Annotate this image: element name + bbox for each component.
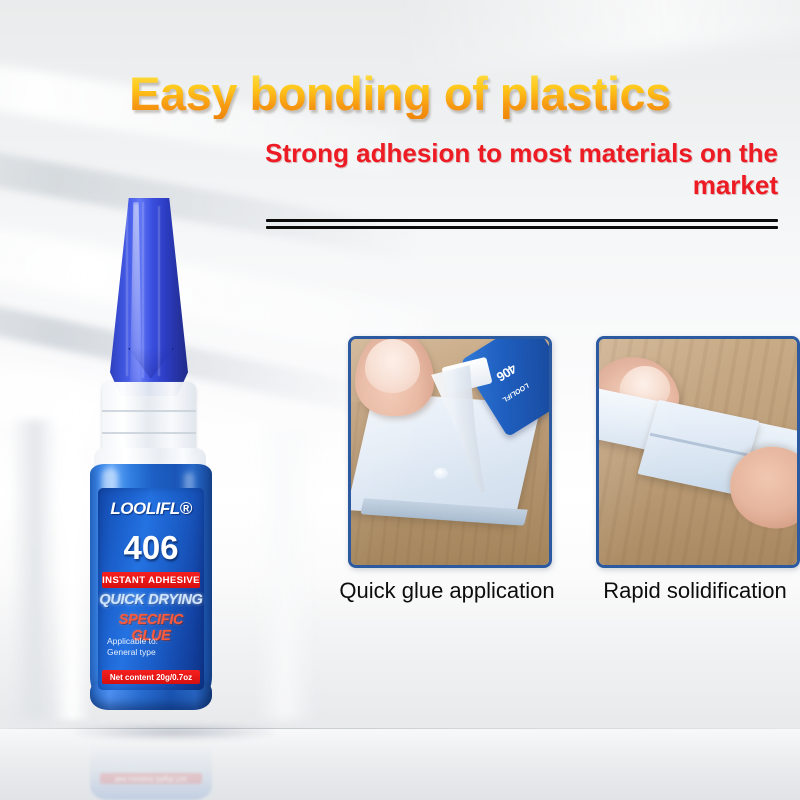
panel-1-scene: 406 LOOLIFL <box>351 339 549 565</box>
bottle-label: LOOLIFL® 406 INSTANT ADHESIVE QUICK DRYI… <box>98 488 204 690</box>
applicable-label: Applicable to: <box>107 636 158 647</box>
collar-seam <box>102 410 196 412</box>
product-bottle: LOOLIFL® 406 INSTANT ADHESIVE QUICK DRYI… <box>84 196 260 736</box>
divider-rule-top <box>266 219 778 222</box>
page-subtitle: Strong adhesion to most materials on the… <box>178 138 778 201</box>
divider-rule-bottom <box>266 226 778 229</box>
product-model-number: 406 <box>98 529 204 567</box>
page-title: Easy bonding of plastics <box>0 70 800 119</box>
applicable-block: Applicable to: General type <box>107 636 158 659</box>
panel-2-scene <box>599 339 797 565</box>
collar-seam <box>102 432 196 434</box>
brand-logo-text: LOOLIFL® <box>110 499 191 518</box>
product-photo-panel-1: 406 LOOLIFL <box>348 336 552 568</box>
net-content-band: Net content 20g/0.7oz <box>102 670 200 684</box>
mini-bottle-brand: LOOLIFL <box>501 382 530 404</box>
panel-2-caption: Rapid solidification <box>574 578 800 604</box>
brand-logo: LOOLIFL® <box>98 499 204 519</box>
panel-1-caption: Quick glue application <box>310 578 584 604</box>
advertisement-canvas: Easy bonding of plastics Strong adhesion… <box>0 0 800 800</box>
quick-drying-text: QUICK DRYING <box>98 592 204 608</box>
mini-bottle-number: 406 <box>494 361 519 384</box>
applicable-value: General type <box>107 647 158 658</box>
divider-rules <box>266 219 778 229</box>
product-photo-panel-2 <box>596 336 800 568</box>
fingernail <box>365 339 420 393</box>
mini-bottle-red-band <box>513 336 532 339</box>
instant-adhesive-band: INSTANT ADHESIVE <box>102 572 200 588</box>
instant-adhesive-text: INSTANT ADHESIVE <box>102 575 200 586</box>
cap-ridge-icon <box>126 206 128 376</box>
glue-droplet <box>434 468 448 479</box>
net-content-text: Net content 20g/0.7oz <box>110 673 192 682</box>
bottle-collar <box>102 382 196 456</box>
